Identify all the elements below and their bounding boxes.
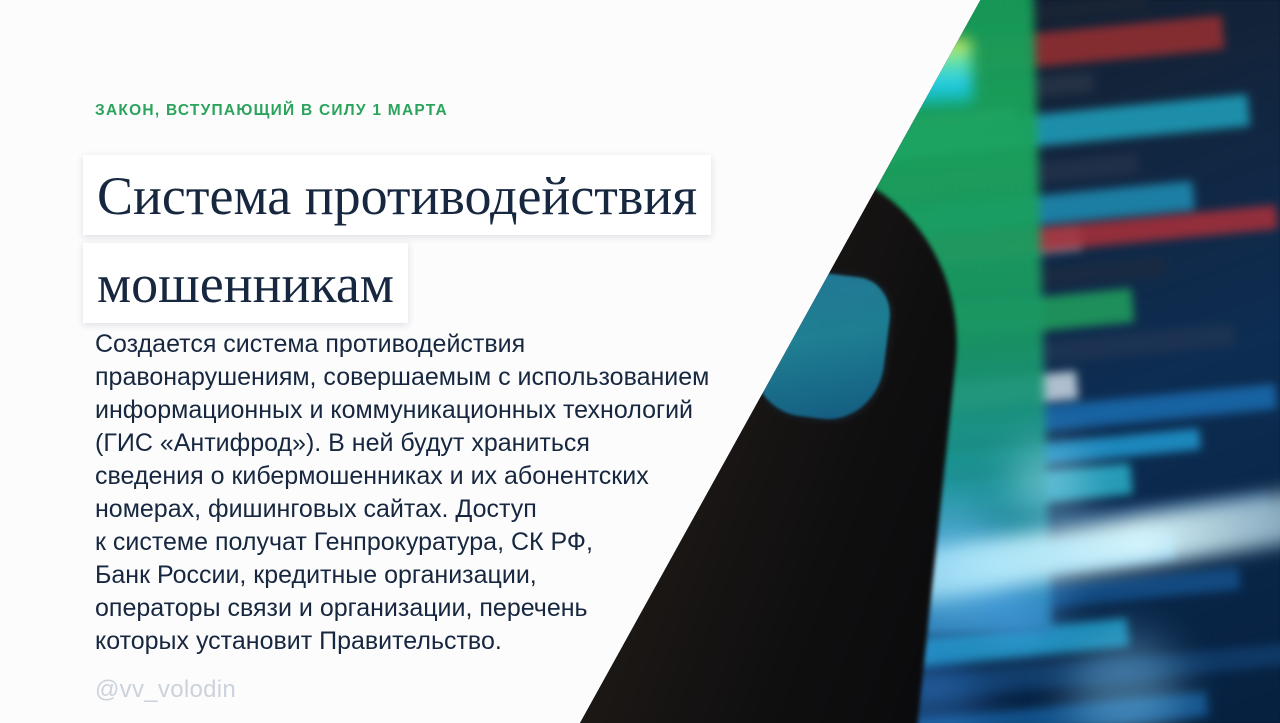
bokeh-dot	[1014, 448, 1084, 518]
body-line-4: (ГИС «Антифрод»). В ней будут храниться	[95, 427, 795, 460]
body-line-6: номерах, фишинговых сайтах. Доступ	[95, 493, 795, 526]
account-handle: @vv_volodin	[95, 676, 236, 704]
body-line-3: информационных и коммуникационных технол…	[95, 394, 795, 427]
body-line-9: операторы связи и организации, перечень	[95, 592, 795, 625]
headline-line-2: мошенникам	[83, 243, 408, 323]
body-line-8: Банк России, кредитные организации,	[95, 559, 795, 592]
body-line-2: правонарушениям, совершаемым с использов…	[95, 361, 795, 394]
bright-top-band	[747, 39, 973, 112]
kicker-label: ЗАКОН, ВСТУПАЮЩИЙ В СИЛУ 1 МАРТА	[95, 102, 448, 120]
body-line-5: сведения о кибермошенниках и их абонентс…	[95, 460, 795, 493]
body-line-1: Создается система противодействия	[95, 328, 795, 361]
slide-root: ЗАКОН, ВСТУПАЮЩИЙ В СИЛУ 1 МАРТА Система…	[0, 0, 1280, 723]
body-line-7: к системе получат Генпрокуратура, СК РФ,	[95, 526, 795, 559]
body-copy: Создается система противодействияправона…	[95, 328, 795, 658]
headline-line-1: Система противодействия	[83, 155, 711, 235]
body-line-10: которых установит Правительство.	[95, 625, 795, 658]
page-title: Система противодействия мошенникам	[83, 155, 843, 323]
